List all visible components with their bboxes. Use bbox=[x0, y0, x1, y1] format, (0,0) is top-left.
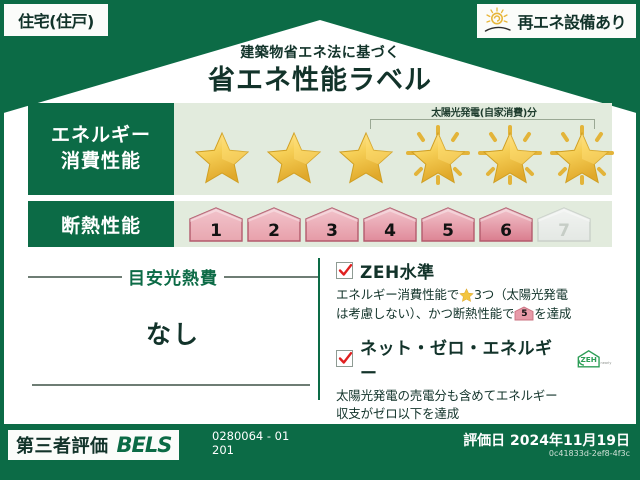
energy-label-screenshot: { "header": { "house_type_badge": "住宅(住戸… bbox=[0, 0, 640, 480]
solar-bracket-caption: 太陽光発電(自家消費)分 bbox=[364, 104, 604, 119]
energy-performance-body: 太陽光発電(自家消費)分 bbox=[174, 103, 612, 195]
utility-cost-heading-label: 目安光熱費 bbox=[128, 264, 218, 289]
star-rating bbox=[188, 125, 616, 189]
utility-cost-value: なし bbox=[28, 315, 318, 351]
star-icon-3 bbox=[332, 125, 400, 189]
footer: 第三者評価 BELS 0280064 - 01 201 評価日 2024年11月… bbox=[0, 424, 640, 480]
zeh-logo-icon: ZEH nearly bbox=[572, 348, 612, 370]
zeh-level-checkbox[interactable] bbox=[336, 262, 353, 279]
insulation-house-3: 3 bbox=[304, 206, 360, 244]
zeh-level-title: ZEH水準 bbox=[360, 258, 435, 283]
renewable-energy-badge: 再エネ設備あり bbox=[477, 4, 636, 38]
insulation-house-5: 5 bbox=[420, 206, 476, 244]
energy-performance-row: エネルギー 消費性能 太陽光発電(自家消費)分 bbox=[28, 103, 612, 195]
bels-id-line1: 0280064 - 01 bbox=[212, 429, 289, 443]
performance-rows: エネルギー 消費性能 太陽光発電(自家消費)分 断熱性能 1234567 bbox=[28, 103, 612, 253]
criterion-zeh-level-header: ZEH水準 bbox=[336, 258, 612, 283]
utility-cost-block: 目安光熱費 なし bbox=[28, 258, 318, 408]
house-number-label: 3 bbox=[304, 221, 360, 241]
star-icon-4 bbox=[404, 125, 472, 189]
heading-rule-left bbox=[28, 276, 122, 278]
svg-text:ZEH: ZEH bbox=[580, 355, 596, 364]
house-type-badge: 住宅(住戸) bbox=[4, 4, 108, 36]
insulation-house-4: 4 bbox=[362, 206, 418, 244]
criterion-net-zero-energy: ネット・ゼロ・エネルギー ZEH nearly 太陽光発電の売電分も含めてエネル… bbox=[336, 334, 612, 425]
inline-house-number: 5 bbox=[514, 306, 534, 321]
heading-rule-right bbox=[224, 276, 318, 278]
bels-jp-label: 第三者評価 bbox=[16, 432, 109, 458]
insulation-performance-body: 1234567 bbox=[174, 201, 612, 247]
zeh-desc-part1: エネルギー消費性能で bbox=[336, 287, 459, 302]
criteria-block: ZEH水準 エネルギー消費性能で3つ（太陽光発電は考慮しない）、かつ断熱性能で5… bbox=[318, 258, 612, 408]
star-icon-5 bbox=[476, 125, 544, 189]
house-number-label: 1 bbox=[188, 221, 244, 241]
star-icon-6 bbox=[548, 125, 616, 189]
net-zero-checkbox[interactable] bbox=[336, 350, 353, 367]
utility-cost-bottom-rule bbox=[32, 384, 310, 386]
insulation-house-2: 2 bbox=[246, 206, 302, 244]
evaluation-hash: 0c41833d-2ef8-4f3c bbox=[549, 449, 630, 458]
vertical-divider bbox=[318, 258, 320, 400]
zeh-desc-stars: 3つ（太陽光発電 bbox=[474, 287, 568, 302]
zeh-desc-part2: は考慮しない）、かつ断熱性能で bbox=[336, 306, 514, 321]
insulation-label-text: 断熱性能 bbox=[61, 211, 141, 238]
house-type-badge-label: 住宅(住戸) bbox=[18, 8, 94, 32]
utility-cost-heading: 目安光熱費 bbox=[28, 264, 318, 289]
bels-badge: 第三者評価 BELS bbox=[8, 430, 179, 460]
house-number-label: 6 bbox=[478, 221, 534, 241]
insulation-scale: 1234567 bbox=[188, 206, 592, 244]
insulation-house-7: 7 bbox=[536, 206, 592, 244]
inline-house-badge: 5 bbox=[514, 306, 534, 321]
check-icon bbox=[338, 351, 353, 366]
insulation-house-1: 1 bbox=[188, 206, 244, 244]
house-number-label: 5 bbox=[420, 221, 476, 241]
bels-id-line2: 201 bbox=[212, 443, 289, 457]
bels-id: 0280064 - 01 201 bbox=[212, 429, 289, 458]
insulation-performance-label: 断熱性能 bbox=[28, 201, 174, 247]
insulation-house-6: 6 bbox=[478, 206, 534, 244]
star-icon-1 bbox=[188, 125, 256, 189]
bels-en-label: BELS bbox=[117, 433, 172, 457]
criterion-net-zero-header: ネット・ゼロ・エネルギー ZEH nearly bbox=[336, 334, 612, 384]
renewable-badge-label: 再エネ設備あり bbox=[517, 9, 626, 33]
svg-text:nearly: nearly bbox=[601, 361, 612, 365]
inline-star-icon bbox=[459, 288, 474, 303]
net-zero-desc-line2: 収支がゼロ以下を達成 bbox=[336, 406, 459, 421]
house-number-label: 7 bbox=[536, 221, 592, 241]
net-zero-title: ネット・ゼロ・エネルギー bbox=[360, 334, 565, 384]
criterion-zeh-level: ZEH水準 エネルギー消費性能で3つ（太陽光発電は考慮しない）、かつ断熱性能で5… bbox=[336, 258, 612, 324]
sun-icon bbox=[483, 7, 513, 35]
house-number-label: 4 bbox=[362, 221, 418, 241]
energy-label-line1: エネルギー bbox=[51, 123, 151, 149]
zeh-desc-part3: を達成 bbox=[534, 306, 571, 321]
net-zero-desc-line1: 太陽光発電の売電分も含めてエネルギー bbox=[336, 388, 557, 403]
lower-section: 目安光熱費 なし ZEH水準 エネルギー消費性能で3つ（太陽光発電は考慮しない）… bbox=[28, 258, 612, 408]
energy-label-line2: 消費性能 bbox=[61, 149, 141, 175]
evaluation-date: 評価日 2024年11月19日 bbox=[463, 430, 630, 450]
check-icon bbox=[338, 263, 353, 278]
page-title: 省エネ性能ラベル bbox=[0, 58, 640, 97]
house-number-label: 2 bbox=[246, 221, 302, 241]
insulation-performance-row: 断熱性能 1234567 bbox=[28, 201, 612, 247]
zeh-level-description: エネルギー消費性能で3つ（太陽光発電は考慮しない）、かつ断熱性能で5を達成 bbox=[336, 286, 612, 324]
star-icon-2 bbox=[260, 125, 328, 189]
energy-performance-label: エネルギー 消費性能 bbox=[28, 103, 174, 195]
net-zero-description: 太陽光発電の売電分も含めてエネルギー 収支がゼロ以下を達成 bbox=[336, 387, 612, 425]
